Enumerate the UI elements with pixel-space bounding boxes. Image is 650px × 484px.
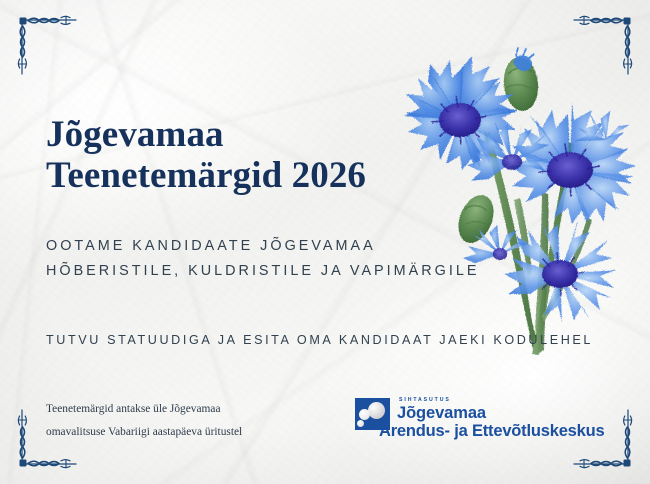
jaek-logo-mark-icon: [355, 398, 390, 430]
logo-circle-small: [357, 420, 364, 427]
page-title: Jõgevamaa Teenetemärgid 2026: [46, 114, 366, 197]
corner-flourish-top-right-icon: [570, 12, 636, 78]
logo-line-2: Arendus- ja Ettevõtluskeskus: [379, 423, 604, 440]
logo-circle-medium: [359, 409, 370, 420]
logo-kicker: SIHTASUTUS: [399, 398, 604, 403]
call-to-action-text: TUTVU STATUUDIGA JA ESITA OMA KANDIDAAT …: [46, 333, 593, 347]
logo-line-1: Jõgevamaa: [397, 405, 604, 422]
jaek-logo: SIHTASUTUS Jõgevamaa Arendus- ja Ettevõt…: [355, 394, 604, 440]
footnote-text: Teenetemärgid antakse üle Jõgevamaa omav…: [46, 398, 316, 444]
corner-flourish-top-left-icon: [14, 12, 80, 78]
logo-circle-large: [368, 402, 385, 419]
jaek-logo-text: SIHTASUTUS Jõgevamaa Arendus- ja Ettevõt…: [397, 394, 604, 440]
poster-canvas: Jõgevamaa Teenetemärgid 2026 OOTAME KAND…: [0, 0, 650, 484]
subtitle-text: OOTAME KANDIDAATE JÕGEVAMAA HÕBERISTILE,…: [46, 234, 479, 284]
